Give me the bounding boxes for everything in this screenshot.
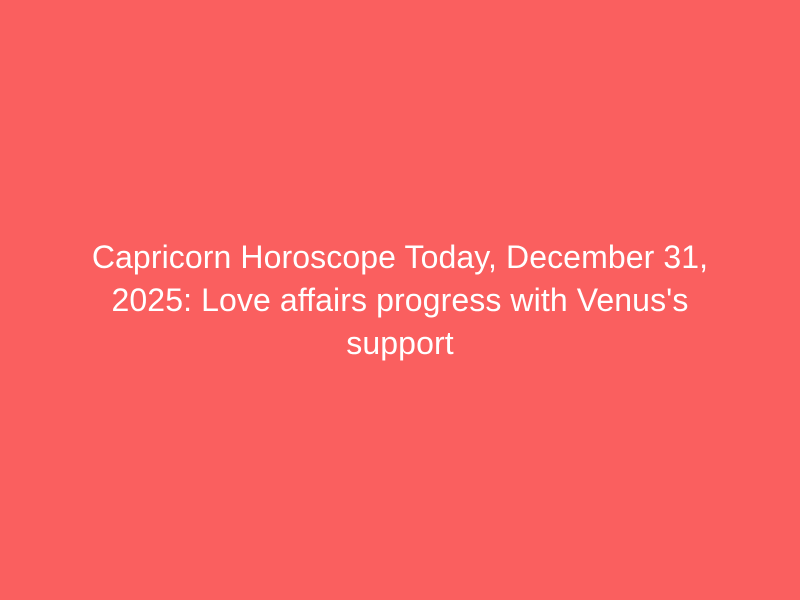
article-headline: Capricorn Horoscope Today, December 31, … [70, 236, 730, 365]
hero-text-block: Capricorn Horoscope Today, December 31, … [70, 236, 730, 365]
article-hero-card: Capricorn Horoscope Today, December 31, … [0, 0, 800, 600]
